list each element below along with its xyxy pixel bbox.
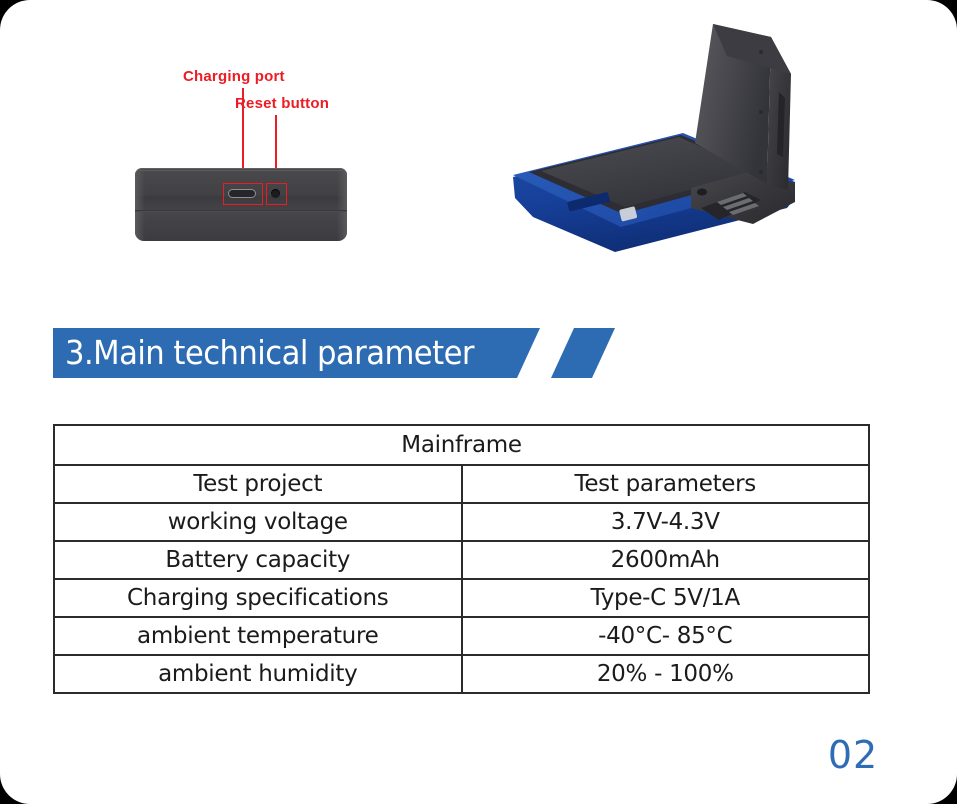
table-header-row: Test project Test parameters (54, 465, 869, 503)
table-row: working voltage 3.7V-4.3V (54, 503, 869, 541)
callout-label-reset-button: Reset button (235, 95, 329, 112)
cell-project: ambient humidity (54, 655, 462, 693)
spec-table: Mainframe Test project Test parameters w… (53, 424, 870, 694)
cell-project: ambient temperature (54, 617, 462, 655)
cell-parameter: 3.7V-4.3V (462, 503, 870, 541)
cell-project: Charging specifications (54, 579, 462, 617)
column-header-test-project: Test project (54, 465, 462, 503)
table-row: Battery capacity 2600mAh (54, 541, 869, 579)
figure-area: Charging port Reset button (0, 0, 957, 300)
cell-parameter: 2600mAh (462, 541, 870, 579)
tester-in-dock-illustration (495, 12, 825, 264)
table-caption-row: Mainframe (54, 425, 869, 465)
table-row: Charging specifications Type-C 5V/1A (54, 579, 869, 617)
reset-button-pinhole-icon (271, 189, 280, 198)
banner-slash-accent (551, 328, 615, 378)
cell-parameter: Type-C 5V/1A (462, 579, 870, 617)
dock-body-seam-line (135, 210, 347, 212)
callout-label-charging-port: Charging port (183, 68, 285, 85)
dock-front-view-figure: Charging port Reset button (120, 55, 370, 255)
cell-parameter: 20% - 100% (462, 655, 870, 693)
table-row: ambient temperature -40°C- 85°C (54, 617, 869, 655)
table-caption-cell: Mainframe (54, 425, 869, 465)
cell-parameter: -40°C- 85°C (462, 617, 870, 655)
dock-body-right-bevel (337, 168, 347, 241)
section-heading-banner: 3.Main technical parameter (53, 328, 615, 378)
page-number: 02 (818, 733, 888, 777)
tester-in-dock-perspective-figure (495, 12, 825, 264)
usb-c-port-icon (228, 189, 256, 198)
cell-project: working voltage (54, 503, 462, 541)
document-page: Charging port Reset button (0, 0, 957, 804)
column-header-test-parameters: Test parameters (462, 465, 870, 503)
table-row: ambient humidity 20% - 100% (54, 655, 869, 693)
dock-body-left-bevel (135, 168, 145, 241)
cell-project: Battery capacity (54, 541, 462, 579)
section-heading-text: 3.Main technical parameter (65, 328, 474, 378)
